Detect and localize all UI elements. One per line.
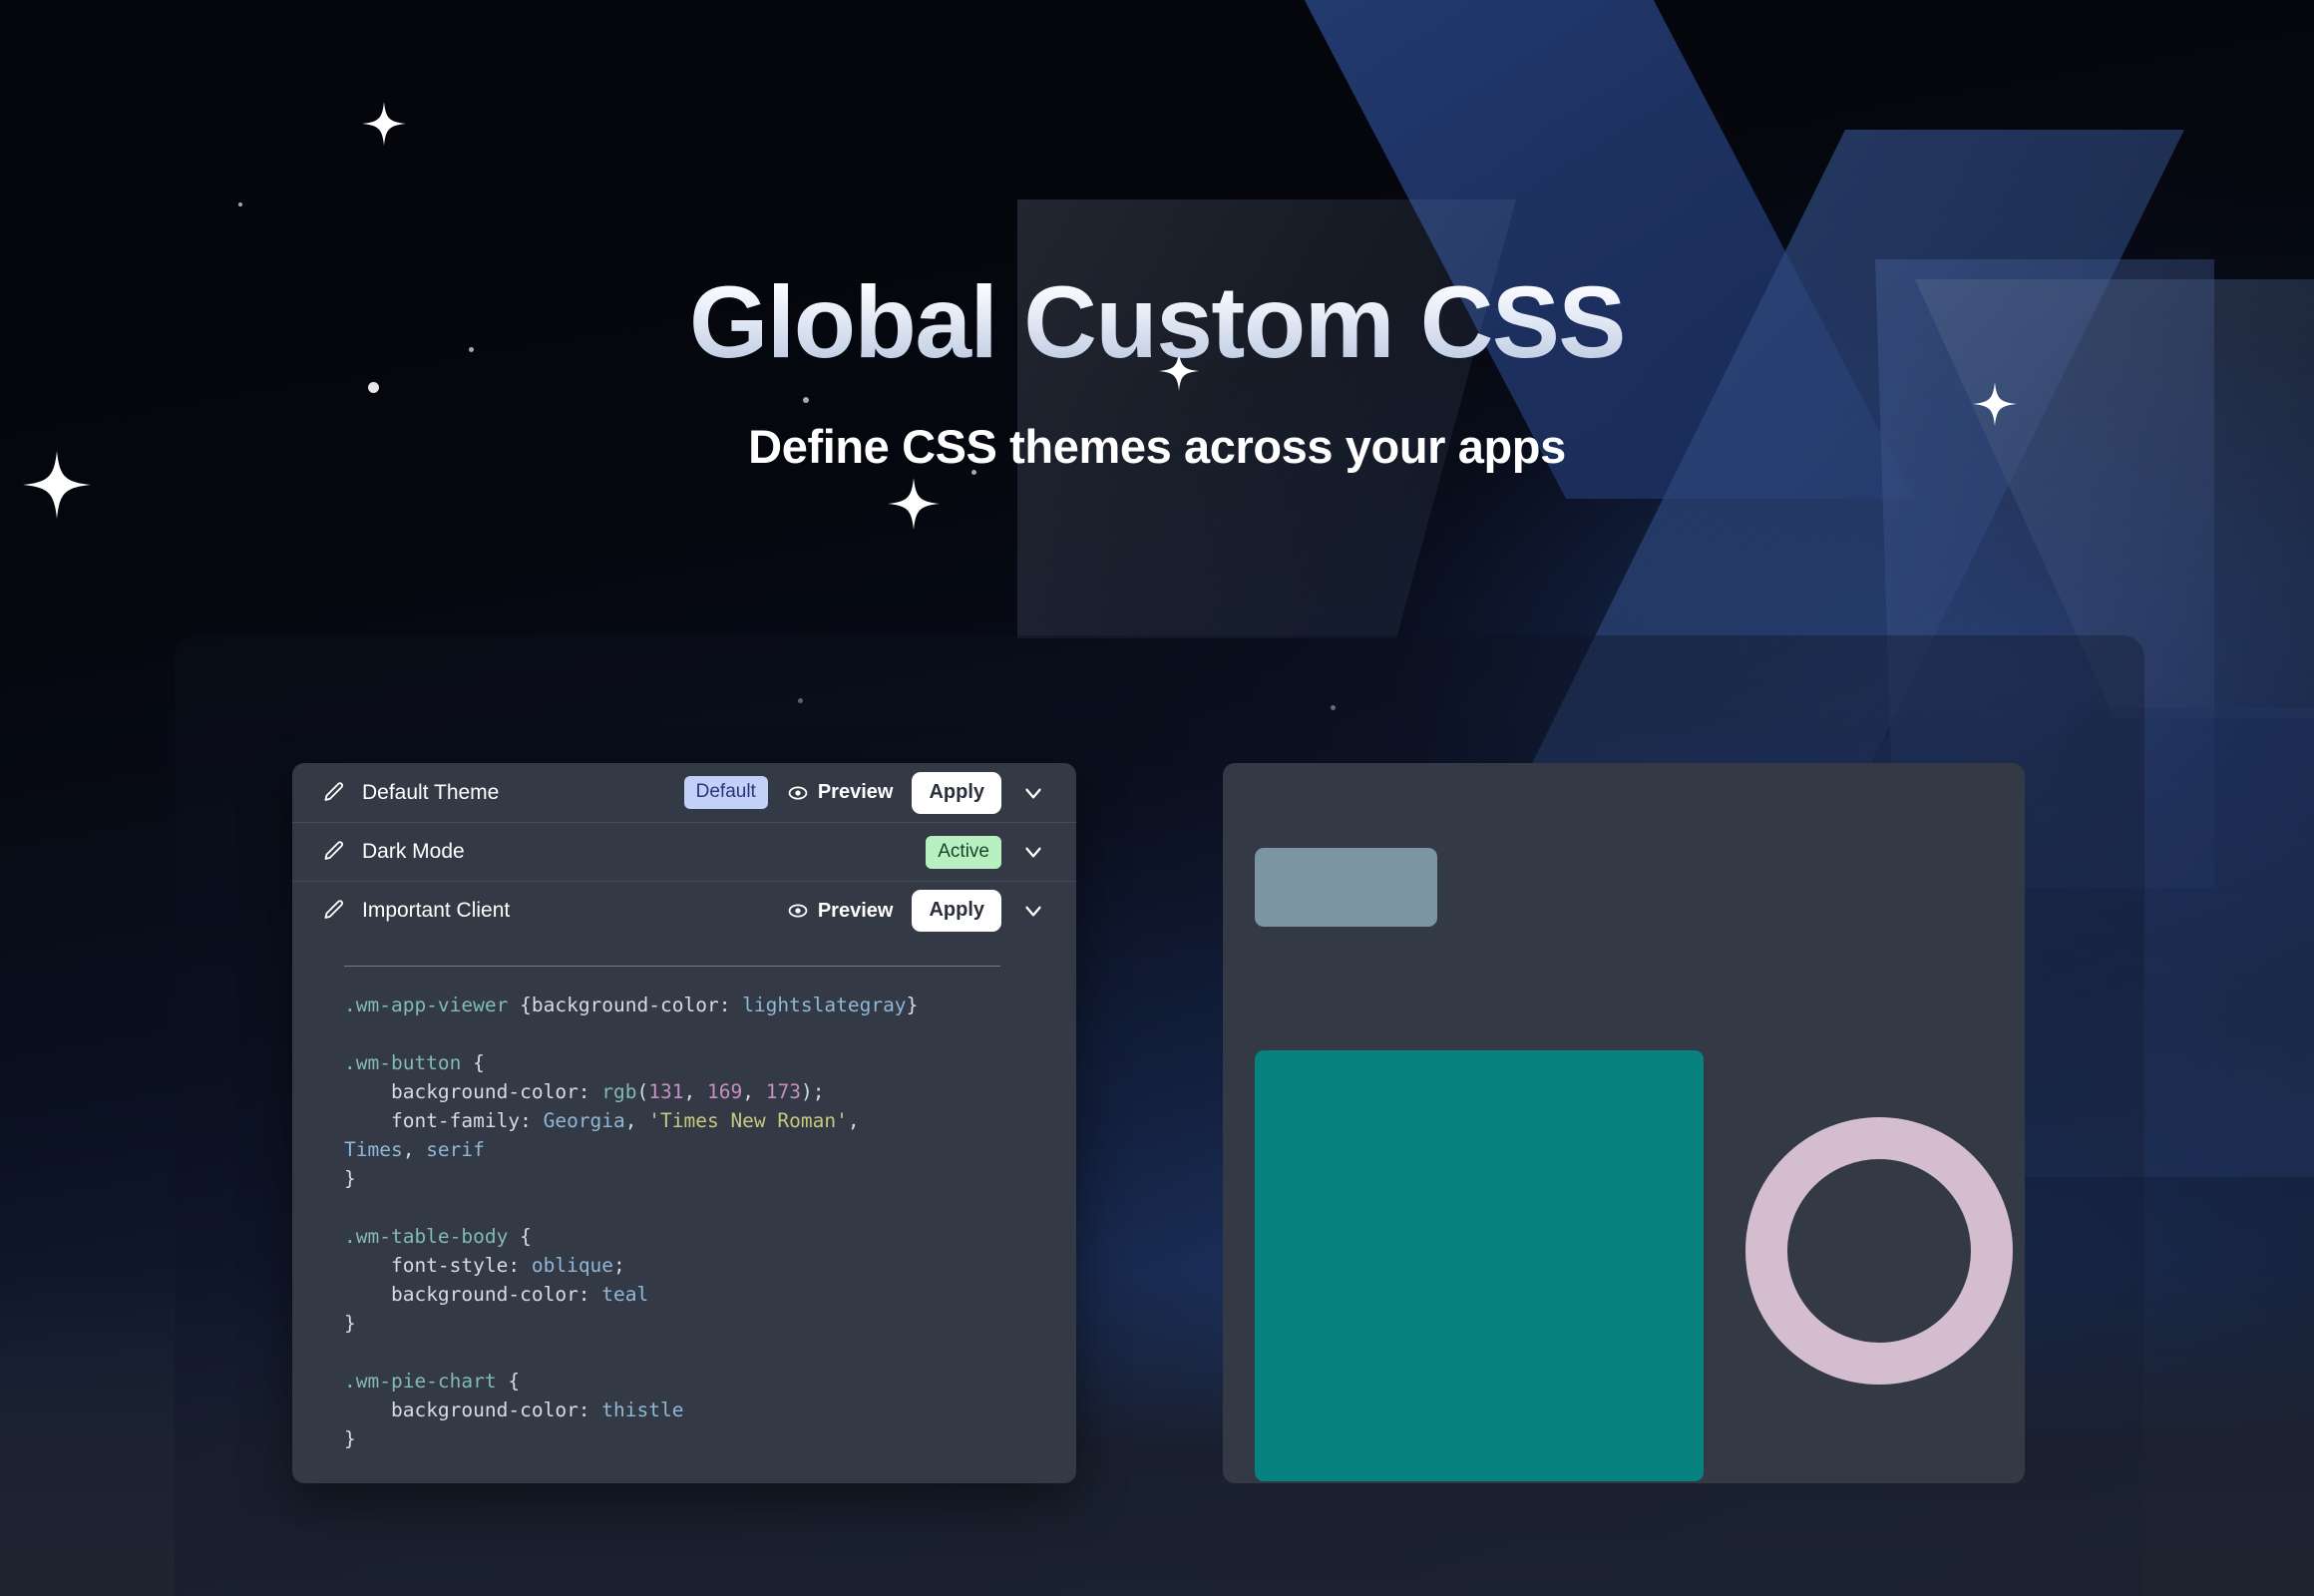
chevron-down-icon[interactable] (1020, 898, 1046, 924)
theme-row[interactable]: Important Client PreviewApply (292, 881, 1076, 940)
code-token-val: serif (426, 1138, 485, 1161)
code-token-num: 173 (766, 1080, 801, 1103)
code-token-val: thistle (601, 1398, 683, 1421)
code-token-prop: background-color: (344, 1398, 601, 1421)
code-token-punct: ); (801, 1080, 824, 1103)
pencil-icon[interactable] (320, 898, 346, 924)
theme-preview-panel (1223, 763, 2025, 1483)
code-token-punct: , (742, 1080, 765, 1103)
preview-wm-button (1255, 848, 1437, 927)
code-token-punct: ; (613, 1254, 625, 1277)
status-badge: Default (684, 776, 768, 809)
code-token-punct: } (344, 1427, 356, 1450)
preview-button[interactable]: Preview (787, 900, 894, 923)
eye-icon (787, 900, 809, 922)
code-token-sel: .wm-table-body (344, 1225, 508, 1248)
code-token-prop: background-color: (532, 994, 742, 1016)
css-code-block[interactable]: .wm-app-viewer {background-color: lights… (292, 991, 1076, 1453)
preview-wm-table-body (1255, 1050, 1704, 1481)
code-token-sel: .wm-pie-chart (344, 1370, 497, 1393)
apply-button[interactable]: Apply (912, 890, 1001, 932)
code-token-punct: , (625, 1109, 648, 1132)
code-token-sel: .wm-app-viewer (344, 994, 508, 1016)
code-token-punct: } (344, 1167, 356, 1190)
theme-name-label: Dark Mode (362, 840, 465, 864)
code-token-fn: rgb (601, 1080, 636, 1103)
code-token-punct: , (684, 1080, 707, 1103)
theme-editor-panel: Default ThemeDefault PreviewApply Dark M… (292, 763, 1076, 1483)
code-token-punct: , (848, 1109, 860, 1132)
code-token-sel: .wm-button (344, 1051, 461, 1074)
hero-section: Global Custom CSS Define CSS themes acro… (0, 0, 2314, 474)
star-sparkle (888, 478, 940, 535)
code-token-val: Times (344, 1138, 403, 1161)
code-token-prop: font-family: (344, 1109, 544, 1132)
code-token-val: oblique (532, 1254, 613, 1277)
code-token-punct: ( (637, 1080, 649, 1103)
code-token-val: Georgia (544, 1109, 625, 1132)
chevron-down-icon[interactable] (1020, 839, 1046, 865)
preview-button-label: Preview (818, 900, 894, 923)
pencil-icon[interactable] (320, 839, 346, 865)
code-token-val: teal (601, 1283, 648, 1306)
apply-button[interactable]: Apply (912, 772, 1001, 814)
code-token-punct: , (403, 1138, 426, 1161)
page-title: Global Custom CSS (0, 271, 2314, 373)
preview-button[interactable]: Preview (787, 781, 894, 804)
theme-name-label: Important Client (362, 899, 510, 923)
code-token-num: 169 (707, 1080, 742, 1103)
code-token-num: 131 (648, 1080, 683, 1103)
preview-wm-pie-chart (1745, 1117, 2013, 1385)
status-badge: Active (926, 836, 1001, 869)
code-token-str: 'Times New Roman' (648, 1109, 848, 1132)
eye-icon (787, 782, 809, 804)
theme-row[interactable]: Dark ModeActive (292, 822, 1076, 881)
theme-row[interactable]: Default ThemeDefault PreviewApply (292, 763, 1076, 822)
code-token-punct: { (461, 1051, 484, 1074)
editor-divider (344, 966, 1000, 967)
chevron-down-icon[interactable] (1020, 780, 1046, 806)
pencil-icon[interactable] (320, 780, 346, 806)
code-token-punct: { (508, 1225, 531, 1248)
code-token-prop: background-color: (344, 1283, 601, 1306)
page-subtitle: Define CSS themes across your apps (0, 419, 2314, 474)
theme-list: Default ThemeDefault PreviewApply Dark M… (292, 763, 1076, 940)
code-token-prop: background-color: (344, 1080, 601, 1103)
code-token-punct: } (907, 994, 919, 1016)
code-token-punct: { (497, 1370, 520, 1393)
code-token-punct: { (508, 994, 531, 1016)
preview-button-label: Preview (818, 781, 894, 804)
code-token-prop: font-style: (344, 1254, 532, 1277)
code-token-punct: } (344, 1312, 356, 1335)
theme-name-label: Default Theme (362, 781, 499, 805)
code-token-val: lightslategray (742, 994, 906, 1016)
